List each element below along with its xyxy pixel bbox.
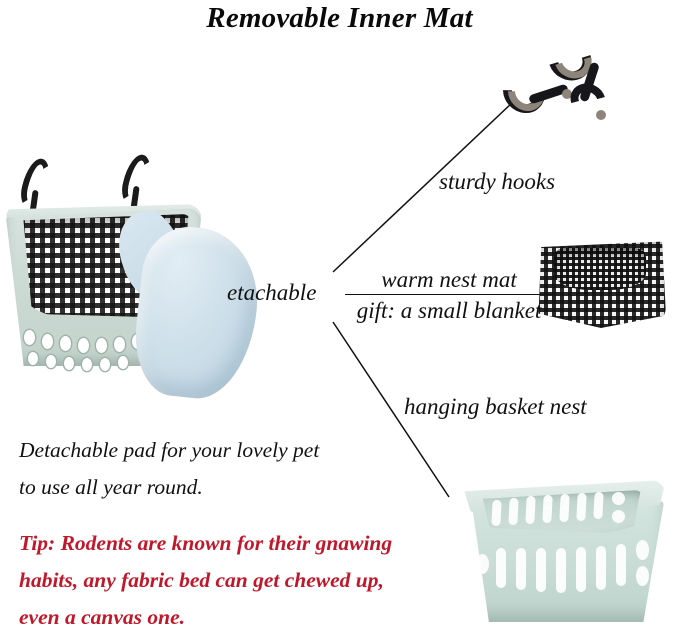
- s-hook-tip: [596, 110, 606, 120]
- basket-slot: [536, 548, 546, 592]
- basket-hole: [612, 510, 625, 523]
- basket-vent-hole: [100, 358, 110, 371]
- basket-slot: [525, 496, 535, 524]
- nest-mat-photo: [534, 228, 668, 332]
- fraction-denominator: gift: a small blanket: [345, 297, 553, 322]
- basket-slot: [508, 498, 518, 525]
- empty-basket-photo: [452, 468, 674, 630]
- basket-vent-hole: [118, 356, 128, 369]
- basket-vent-hole: [24, 330, 35, 345]
- basket-hook-left-icon: [17, 156, 55, 213]
- page-title: Removable Inner Mat: [0, 0, 679, 36]
- basket-slot: [556, 548, 566, 593]
- hooks-photo: [500, 34, 630, 124]
- basket-vent-hole: [28, 352, 38, 365]
- label-sturdy-hooks: sturdy hooks: [439, 170, 555, 193]
- blue-fleece-blanket: [129, 222, 264, 403]
- basket-hole: [612, 492, 625, 505]
- basket-vent-hole: [64, 357, 74, 370]
- basket-hole: [636, 540, 649, 560]
- label-hanging-basket-nest: hanging basket nest: [404, 395, 587, 418]
- description-line-1: Detachable pad for your lovely pet: [19, 432, 419, 469]
- main-product-photo: [2, 152, 274, 404]
- basket-vent-hole: [46, 355, 56, 368]
- description-line-2: to use all year round.: [19, 469, 419, 506]
- tip-line-2: habits, any fabric bed can get chewed up…: [19, 562, 469, 599]
- basket-slot: [496, 548, 506, 588]
- fraction-annotation: warm nest mat gift: a small blanket: [345, 268, 553, 322]
- basket-slot: [616, 544, 626, 586]
- basket-slot: [596, 546, 606, 590]
- basket-vent-hole: [96, 338, 107, 353]
- description-text: Detachable pad for your lovely pet to us…: [19, 432, 419, 506]
- fraction-rule: [345, 294, 553, 295]
- basket-slot: [516, 548, 526, 590]
- basket-hole: [636, 566, 649, 586]
- product-infographic: Removable Inner Mat: [0, 0, 679, 638]
- basket-hook-right-icon: [118, 152, 156, 209]
- label-detachable: etachable: [227, 281, 316, 304]
- basket-vent-hole: [114, 337, 125, 352]
- basket-hole: [476, 554, 489, 574]
- tip-line-3: even a canvas one.: [19, 599, 469, 636]
- basket-slot: [559, 494, 569, 522]
- basket-vent-hole: [60, 336, 71, 351]
- fraction-numerator: warm nest mat: [345, 268, 553, 294]
- basket-slot: [491, 500, 501, 526]
- tip-line-1: Tip: Rodents are known for their gnawing: [19, 525, 469, 562]
- basket-slot: [576, 547, 586, 592]
- basket-vent-hole: [78, 338, 89, 353]
- basket-vent-hole: [82, 358, 92, 371]
- basket-slot: [542, 495, 552, 523]
- basket-slot: [593, 492, 603, 519]
- basket-slot: [576, 493, 586, 521]
- tip-text: Tip: Rodents are known for their gnawing…: [19, 525, 469, 636]
- gingham-mat-inner: [554, 248, 646, 290]
- basket-vent-hole: [42, 334, 53, 349]
